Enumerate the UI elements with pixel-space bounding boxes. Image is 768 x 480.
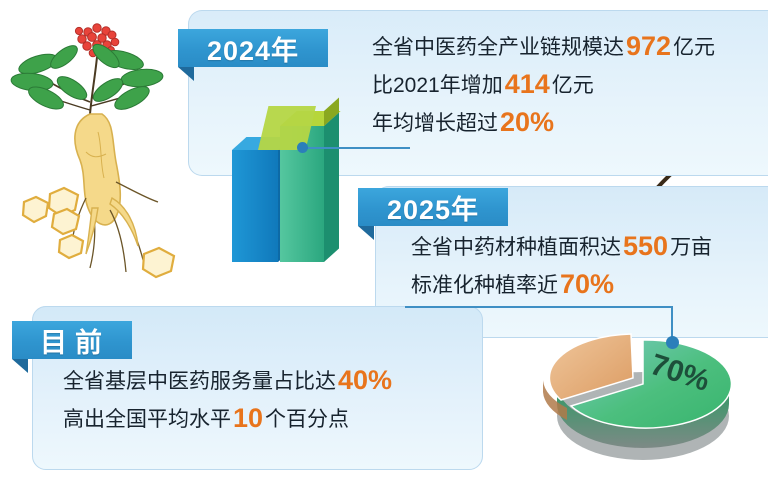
highlight-number: 550 [621,231,670,261]
highlight-number: 414 [503,69,552,99]
connector-panel-to-pie-horizontal [405,306,673,308]
panel-current-text: 全省基层中医药服务量占比达40% 高出全国平均水平10个百分点 [63,362,394,438]
highlight-number: 10 [231,403,265,433]
ribbon-tag-2025-label: 2025年 [387,188,479,227]
highlight-number: 972 [624,31,673,61]
connector-dot-bar [297,142,308,153]
text-line: 全省中医药全产业链规模达972亿元 [372,28,715,66]
connector-bar-to-panel [302,147,410,149]
bar-2024-side [324,112,339,262]
text-line: 比2021年增加414亿元 [372,66,715,104]
panel-2024-text: 全省中医药全产业链规模达972亿元 比2021年增加414亿元 年均增长超过20… [372,28,715,142]
ribbon-tag-2024-label: 2024年 [207,29,299,68]
connector-dot-pie [666,336,679,349]
ginseng-root [72,114,158,272]
text-line: 全省基层中医药服务量占比达40% [63,362,394,400]
panel-2025-text: 全省中药材种植面积达550万亩 标准化种植率近70% [411,228,712,304]
highlight-number: 70% [558,269,616,299]
text-line: 高出全国平均水平10个百分点 [63,400,394,438]
text-line: 全省中药材种植面积达550万亩 [411,228,712,266]
ribbon-fold-icon [358,226,374,240]
highlight-number: 40% [336,365,394,395]
infographic-canvas: 2024年 全省中医药全产业链规模达972亿元 比2021年增加414亿元 年均… [0,0,768,480]
ginseng-leaves [10,40,164,114]
ginseng-plant-illustration [2,2,192,302]
text-line: 标准化种植率近70% [411,266,712,304]
ribbon-tag-2024: 2024年 [178,29,328,67]
ribbon-tag-current-label: 目前 [40,321,110,360]
ribbon-fold-icon [12,359,28,373]
text-line: 年均增长超过20% [372,104,715,142]
bar-2021-front [232,150,278,262]
pie-chart-standardization: 70% [525,300,755,480]
highlight-number: 20% [498,107,556,137]
ribbon-tag-2025: 2025年 [358,188,508,226]
bar-2021 [232,150,278,262]
ribbon-tag-current: 目前 [12,321,132,359]
